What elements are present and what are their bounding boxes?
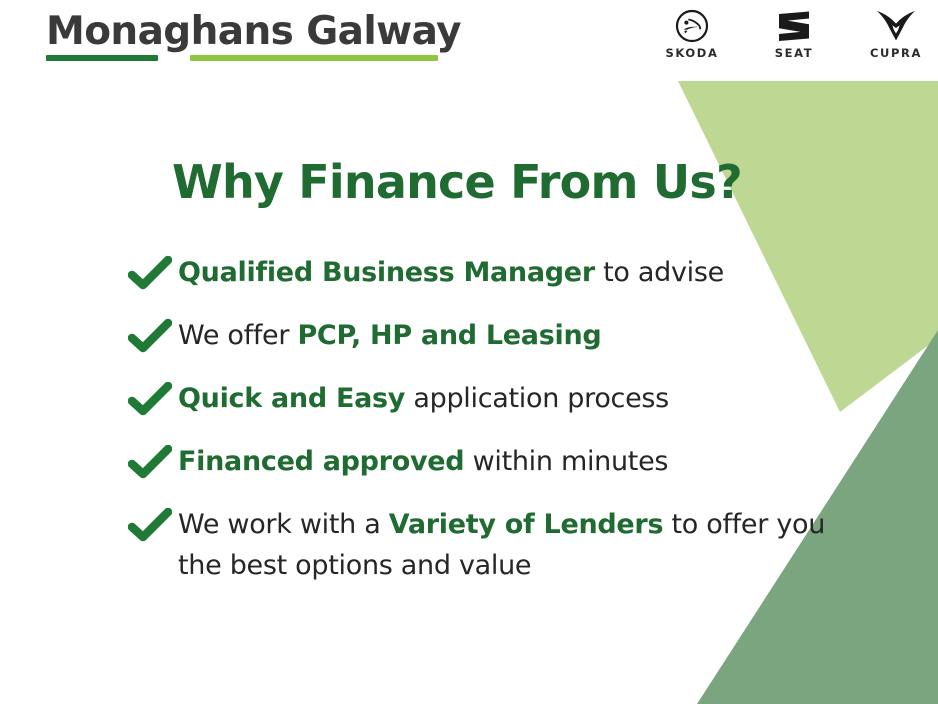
list-item: We offer PCP, HP and Leasing xyxy=(128,315,828,358)
brand-logo-row: SKODA SEAT CUPRA xyxy=(655,8,933,60)
logo-underline-light xyxy=(190,55,438,61)
logo-wordmark: Monaghans Galway xyxy=(46,10,461,54)
brand-cupra: CUPRA xyxy=(859,8,933,60)
seat-s-icon xyxy=(775,8,813,44)
check-icon xyxy=(128,315,178,358)
page-title: Why Finance From Us? xyxy=(172,155,742,209)
skoda-winged-arrow-icon xyxy=(675,8,709,44)
list-item-text: Qualified Business Manager to advise xyxy=(178,252,828,293)
brand-skoda: SKODA xyxy=(655,8,729,60)
plain-text: We work with a xyxy=(178,509,389,540)
check-icon xyxy=(128,441,178,484)
plain-text: within minutes xyxy=(464,446,668,477)
check-icon xyxy=(128,378,178,421)
brand-seat: SEAT xyxy=(757,8,831,60)
monaghans-galway-logo: Monaghans Galway xyxy=(46,10,461,62)
emphasis-text: Quick and Easy xyxy=(178,383,405,414)
list-item: We work with a Variety of Lenders to off… xyxy=(128,504,828,586)
emphasis-text: PCP, HP and Leasing xyxy=(297,320,601,351)
slide-header: Monaghans Galway SKODA xyxy=(0,0,938,82)
list-item-text: We offer PCP, HP and Leasing xyxy=(178,315,828,356)
logo-underline-dark xyxy=(46,55,158,61)
plain-text: application process xyxy=(405,383,669,414)
brand-label-cupra: CUPRA xyxy=(870,46,922,60)
brand-label-seat: SEAT xyxy=(775,46,813,60)
emphasis-text: Qualified Business Manager xyxy=(178,257,595,288)
list-item: Quick and Easy application process xyxy=(128,378,828,421)
check-icon xyxy=(128,504,178,547)
cupra-tribal-icon xyxy=(875,8,917,44)
emphasis-text: Financed approved xyxy=(178,446,464,477)
brand-label-skoda: SKODA xyxy=(666,46,719,60)
benefits-list: Qualified Business Manager to advise We … xyxy=(128,252,828,606)
list-item: Financed approved within minutes xyxy=(128,441,828,484)
emphasis-text: Variety of Lenders xyxy=(389,509,664,540)
plain-text: We offer xyxy=(178,320,297,351)
list-item: Qualified Business Manager to advise xyxy=(128,252,828,295)
logo-underline-group xyxy=(46,55,438,62)
plain-text: to advise xyxy=(595,257,724,288)
list-item-text: Quick and Easy application process xyxy=(178,378,828,419)
check-icon xyxy=(128,252,178,295)
list-item-text: We work with a Variety of Lenders to off… xyxy=(178,504,828,586)
list-item-text: Financed approved within minutes xyxy=(178,441,828,482)
finance-promo-slide: Monaghans Galway SKODA xyxy=(0,0,938,704)
